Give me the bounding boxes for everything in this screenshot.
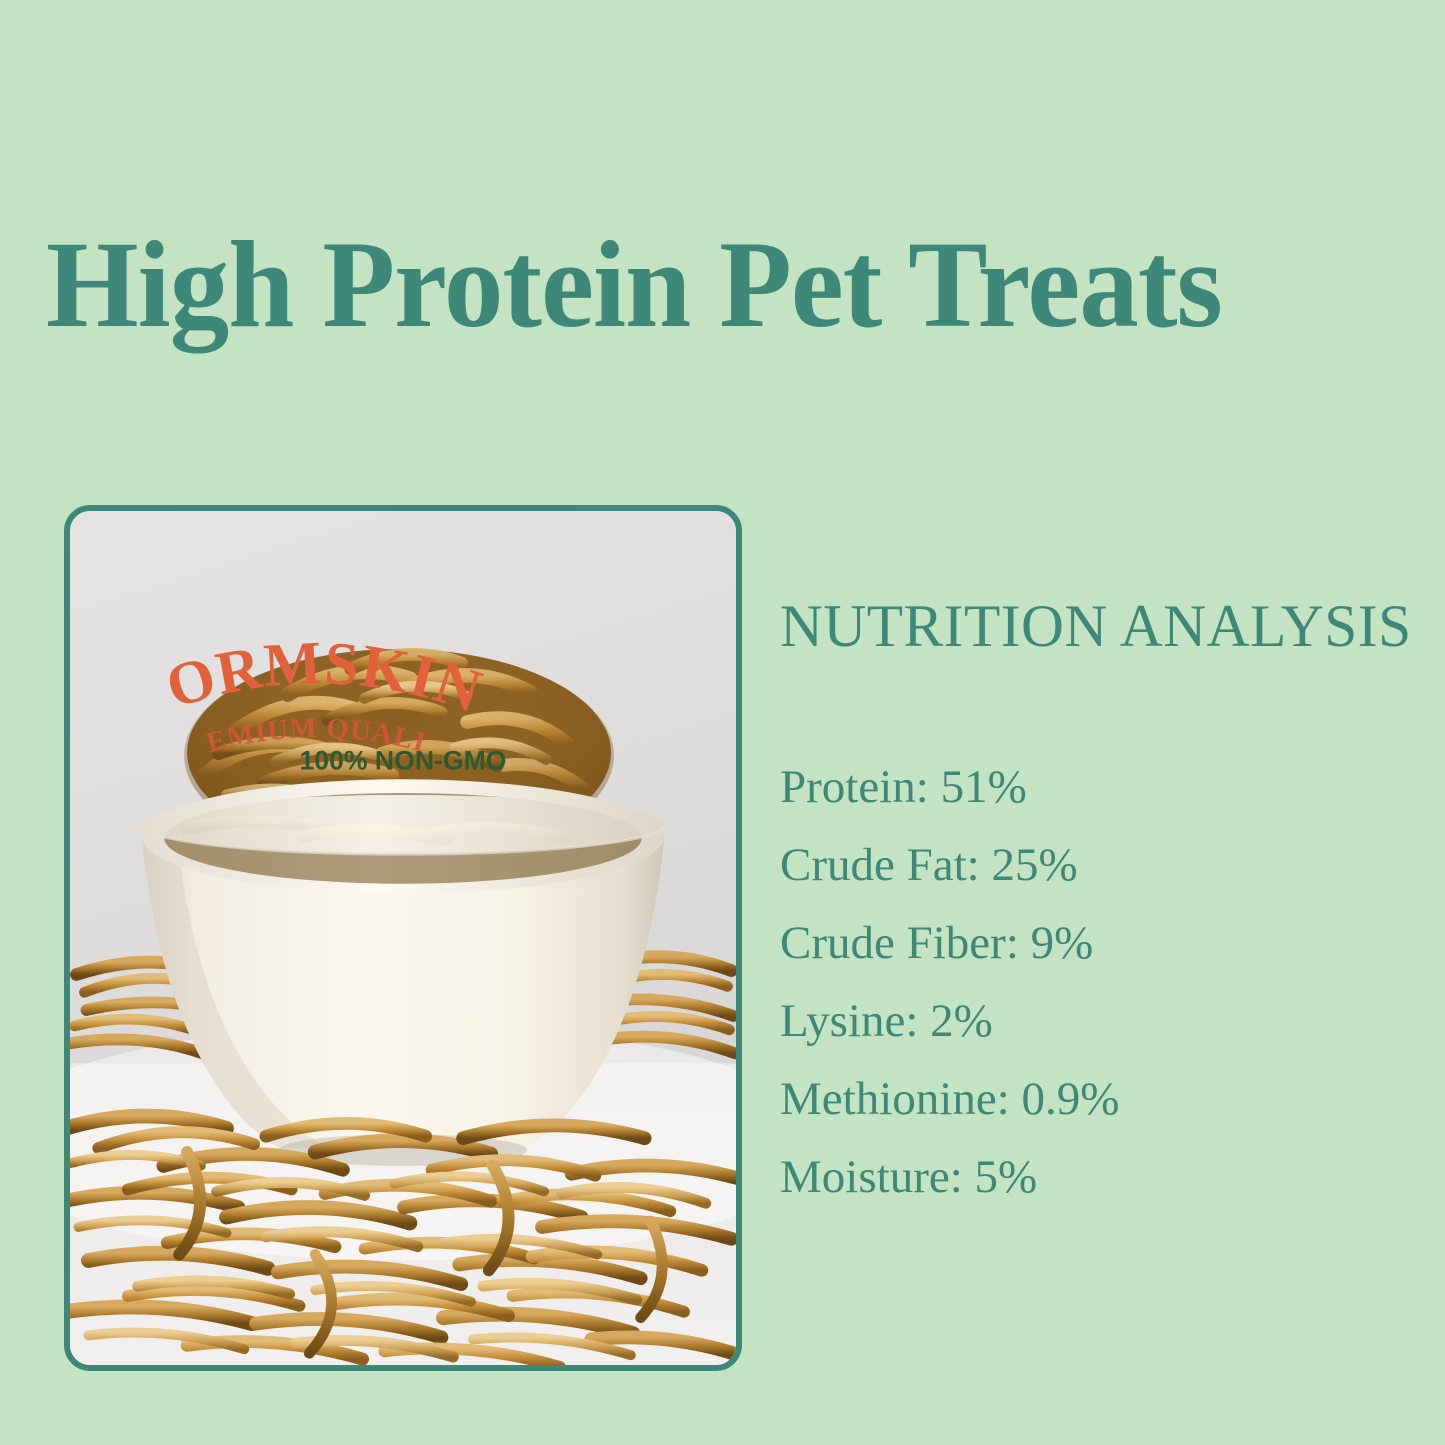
product-infographic: High Protein Pet Treats bbox=[0, 0, 1445, 1445]
nutrition-list: Protein: 51% Crude Fat: 25% Crude Fiber:… bbox=[780, 748, 1410, 1216]
nutrition-panel: NUTRITION ANALYSIS Protein: 51% Crude Fa… bbox=[780, 596, 1410, 1124]
nutrition-item-lysine: Lysine: 2% bbox=[780, 982, 1410, 1060]
nutrition-item-methionine: Methionine: 0.9% bbox=[780, 1060, 1410, 1138]
product-photo: WORMSKING 100% NON-GMO PREMIUM QUALITY bbox=[64, 505, 742, 1371]
product-photo-illustration: WORMSKING 100% NON-GMO PREMIUM QUALITY bbox=[70, 511, 736, 1365]
nutrition-item-moisture: Moisture: 5% bbox=[780, 1138, 1410, 1216]
nutrition-item-crude-fiber: Crude Fiber: 9% bbox=[780, 904, 1410, 982]
nutrition-item-crude-fat: Crude Fat: 25% bbox=[780, 826, 1410, 904]
nutrition-item-protein: Protein: 51% bbox=[780, 748, 1410, 826]
nutrition-heading: NUTRITION ANALYSIS bbox=[780, 596, 1404, 656]
page-title: High Protein Pet Treats bbox=[46, 223, 1352, 347]
